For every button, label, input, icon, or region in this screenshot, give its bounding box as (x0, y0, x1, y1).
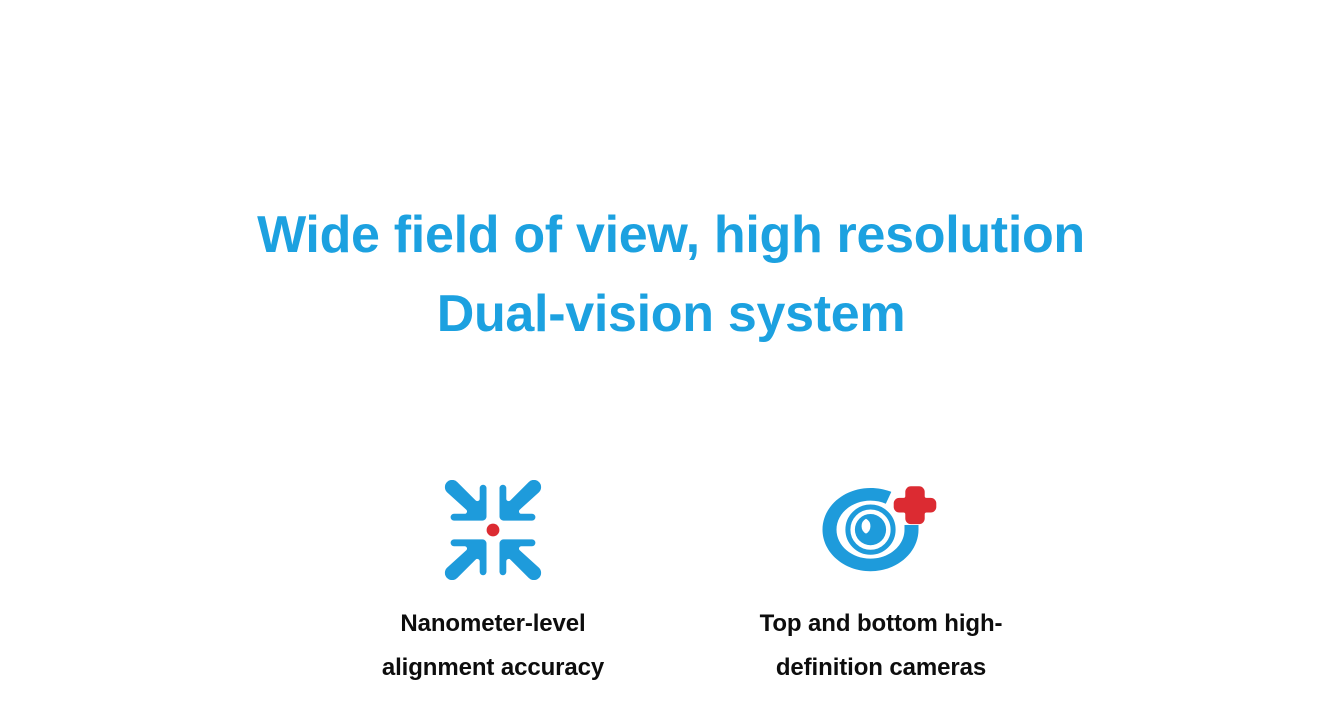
feature-caption-alignment-line-2: alignment accuracy (328, 646, 658, 690)
feature-list: Nanometer-level alignment accuracy (0, 478, 1342, 688)
feature-item-cameras: Top and bottom high- definition cameras (716, 478, 1046, 690)
alignment-target-dot (487, 524, 500, 537)
feature-icon-alignment (328, 478, 658, 582)
feature-icon-cameras (716, 478, 1046, 582)
feature-caption-cameras-line-2: definition cameras (716, 646, 1046, 690)
slide-root: Wide field of view, high resolution Dual… (0, 0, 1342, 702)
feature-caption-alignment: Nanometer-level alignment accuracy (328, 602, 658, 690)
eye-plus-icon (822, 484, 940, 576)
feature-caption-alignment-line-1: Nanometer-level (328, 602, 658, 646)
eye-pupil (855, 514, 886, 545)
feature-caption-cameras: Top and bottom high- definition cameras (716, 602, 1046, 690)
page-title: Wide field of view, high resolution Dual… (0, 196, 1342, 354)
feature-item-alignment: Nanometer-level alignment accuracy (328, 478, 658, 690)
page-title-line-2: Dual-vision system (0, 275, 1342, 354)
feature-caption-cameras-line-1: Top and bottom high- (716, 602, 1046, 646)
page-title-line-1: Wide field of view, high resolution (0, 196, 1342, 275)
plus-icon (894, 486, 937, 524)
converging-arrows-icon (442, 480, 544, 580)
